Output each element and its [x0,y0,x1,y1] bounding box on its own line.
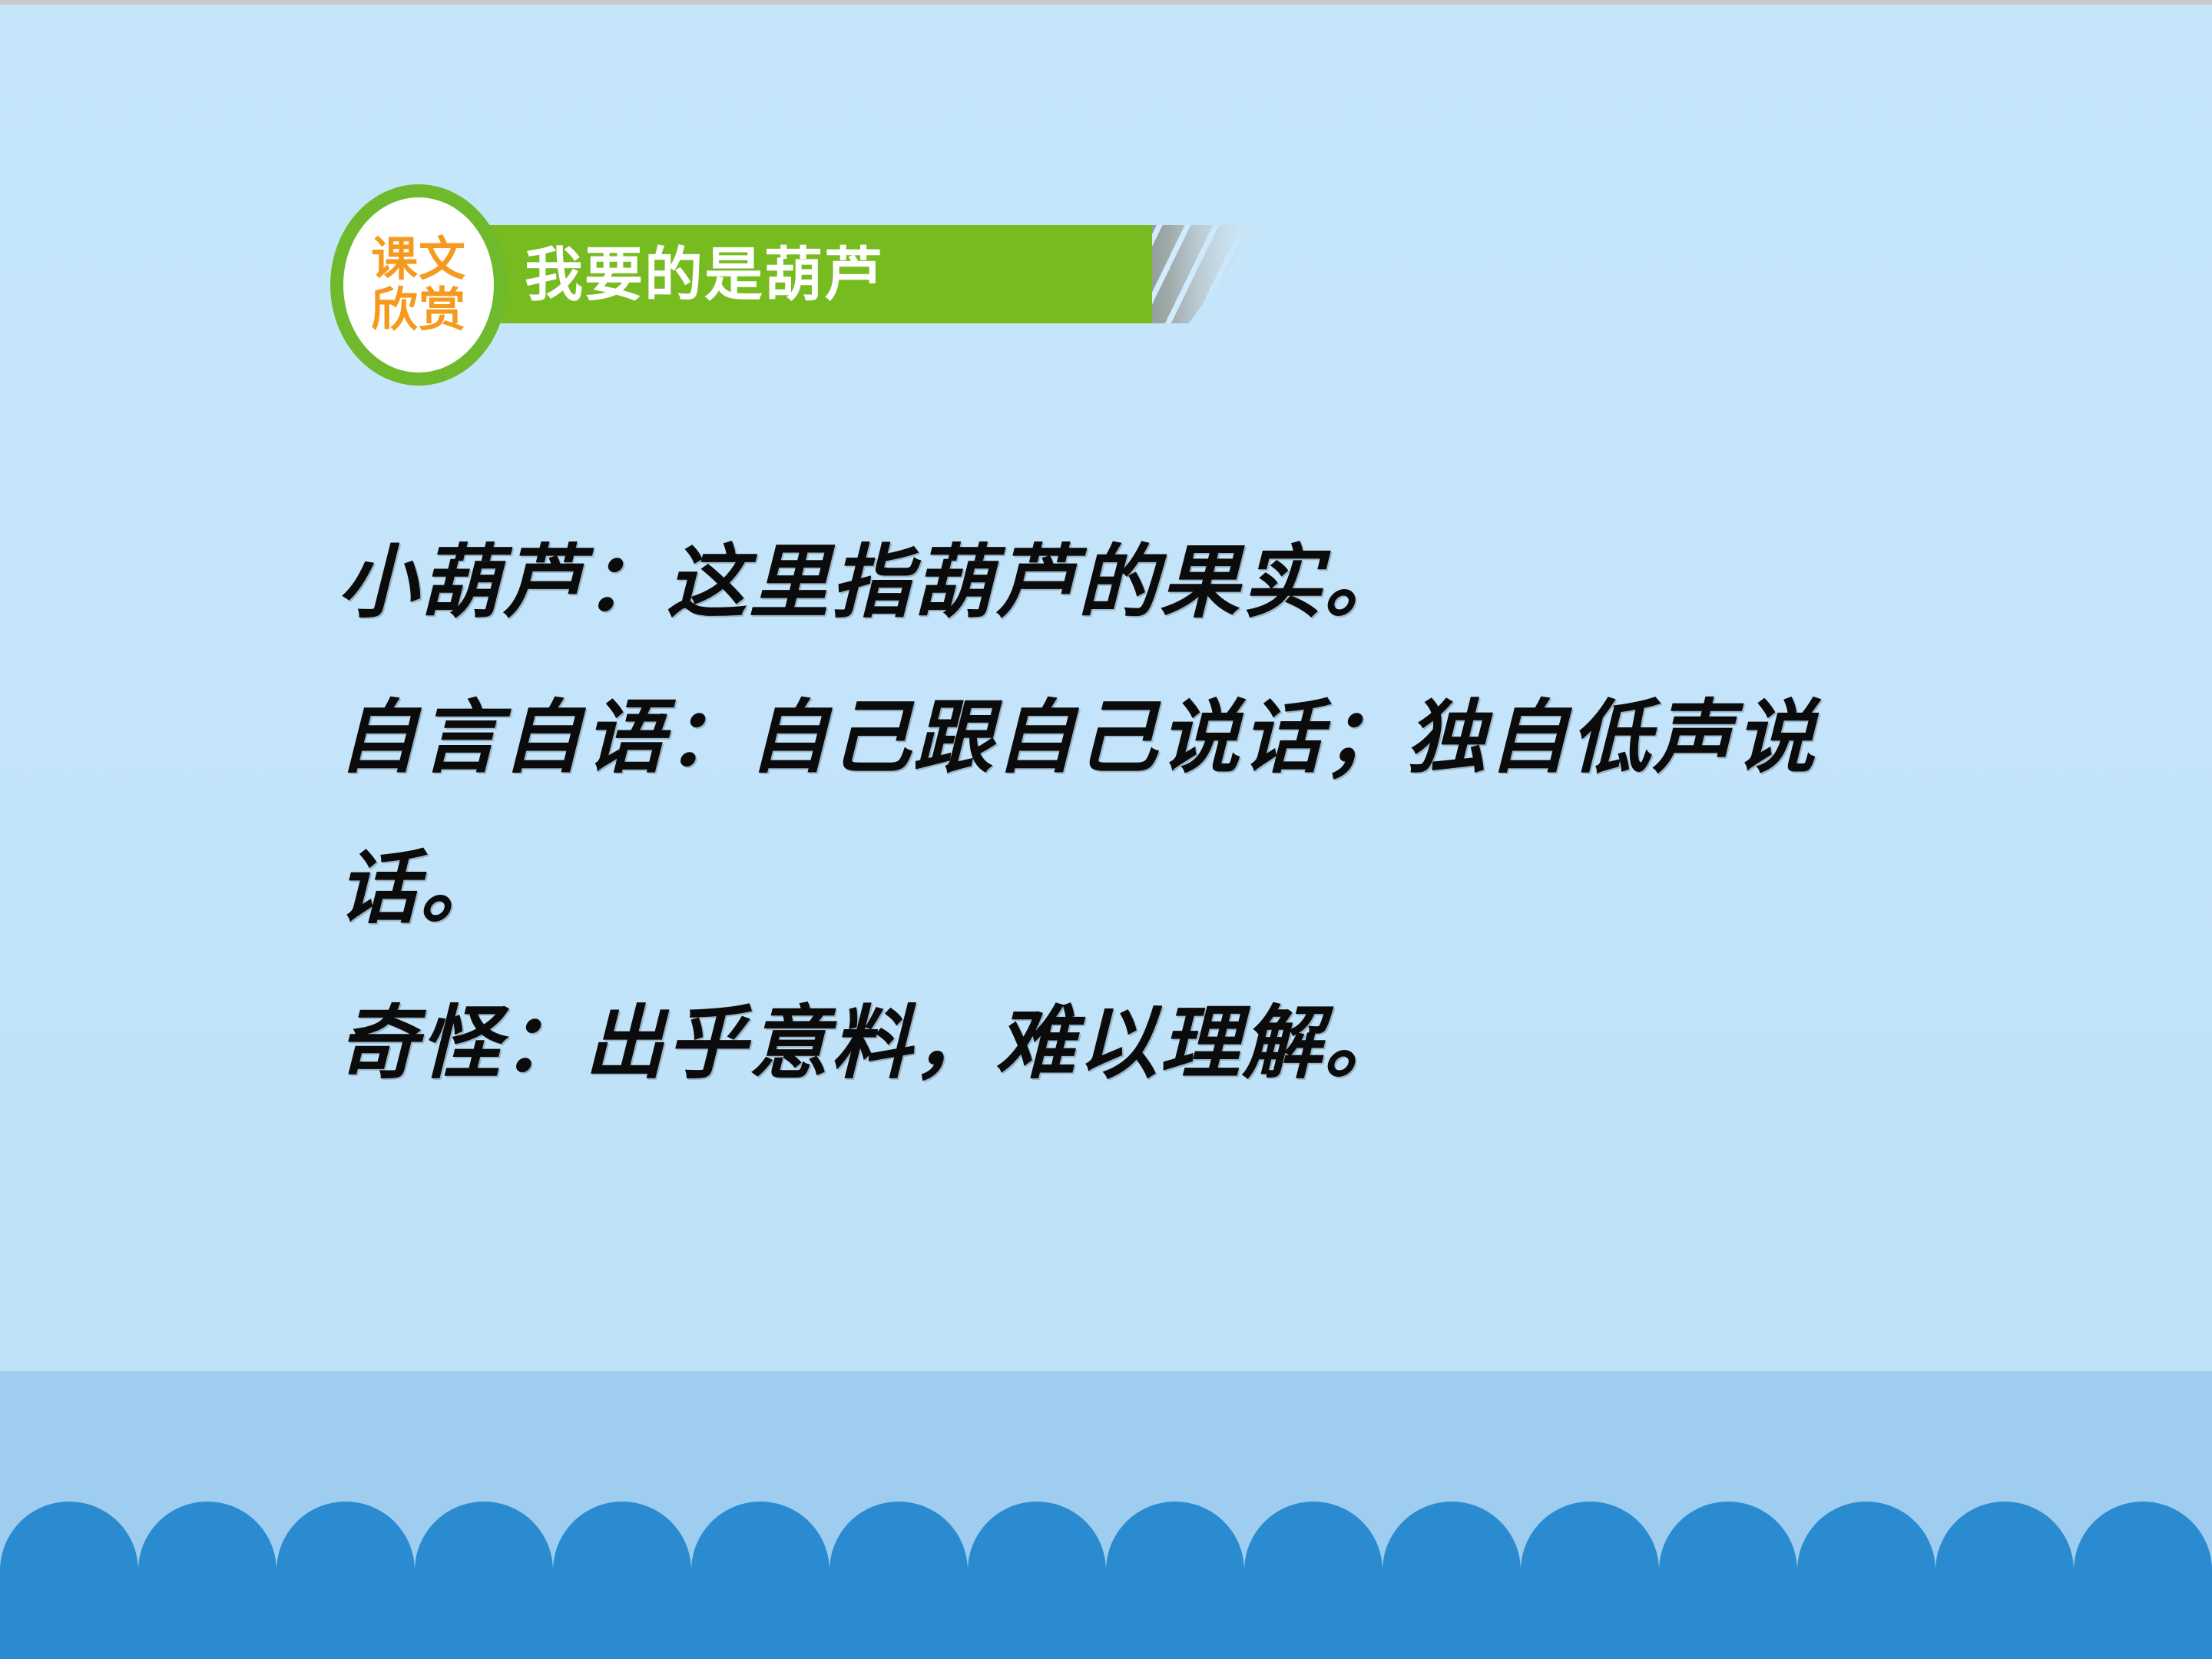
footer-arch [760,1584,899,1659]
footer-arch [1866,1584,2005,1659]
footer-arch [622,1584,760,1659]
vocabulary-entry-qiguai: 奇怪：出乎意料，难以理解。 [338,968,1997,1118]
footer-arch [346,1584,484,1659]
footer-arch [1452,1584,1590,1659]
slide-canvas: 我要的是葫芦 课文 欣赏 小葫芦：这里指葫芦的果实。 自言自语：自己跟自己说话；… [0,0,2212,1659]
vocabulary-entry-ziyanziyu: 自言自语：自己跟自己说话；独自低声说话。 [338,662,1920,963]
footer-arch [1590,1584,1728,1659]
footer-arch [1175,1584,1313,1659]
vocabulary-entry-xiaohulu: 小葫芦：这里指葫芦的果实。 [338,507,1997,657]
footer-arch [899,1584,1037,1659]
footer-arch [69,1584,207,1659]
footer-decoration-band [0,1371,2212,1659]
footer-arch [2143,1584,2212,1659]
footer-arch-row-front [0,1584,2212,1659]
banner-title: 我要的是葫芦 [525,232,1016,318]
lesson-vocabulary-list: 小葫芦：这里指葫芦的果实。 自言自语：自己跟自己说话；独自低声说话。 奇怪：出乎… [338,507,1997,1123]
footer-arch [484,1584,622,1659]
badge-line-1: 课文 [371,234,466,285]
footer-arch [1728,1584,1866,1659]
header-banner: 我要的是葫芦 课文 欣赏 [330,184,1267,392]
badge-line-2: 欣赏 [371,285,466,336]
footer-arch [0,1584,69,1659]
footer-arch [207,1584,346,1659]
footer-arch [1037,1584,1175,1659]
footer-arch [1313,1584,1452,1659]
footer-arch [2005,1584,2143,1659]
lesson-appreciation-badge: 课文 欣赏 [330,184,507,386]
